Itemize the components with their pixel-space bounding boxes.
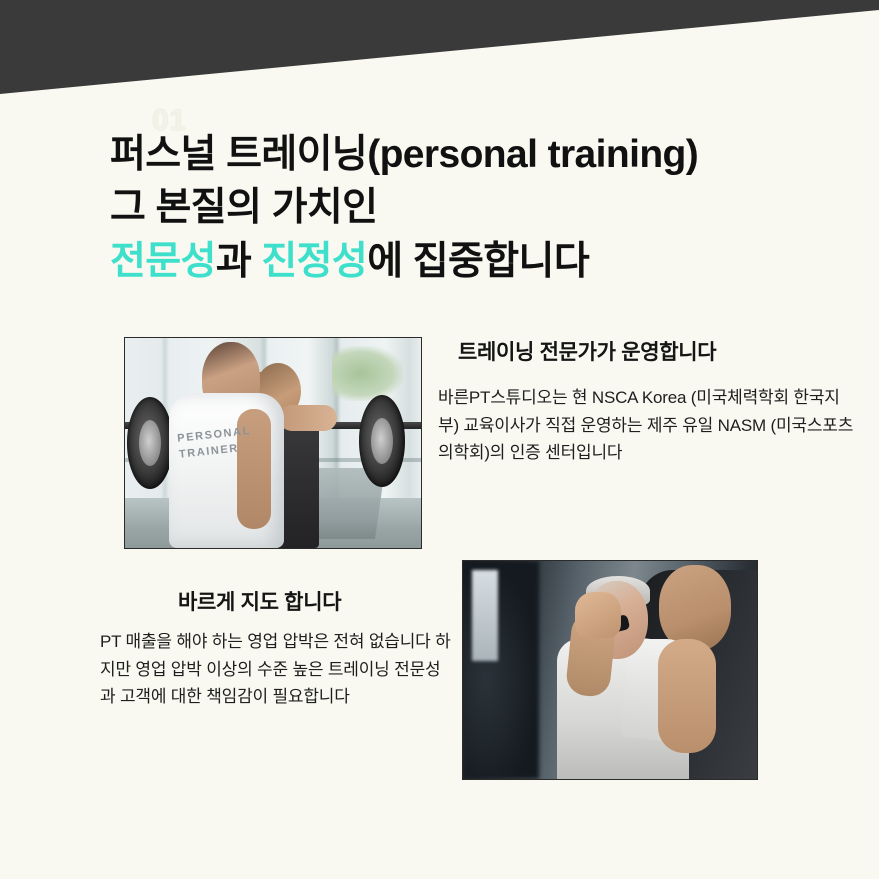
barbell-plate-left xyxy=(127,397,173,489)
headline-line-2: 그 본질의 가치인 xyxy=(110,181,850,234)
clasped-hands xyxy=(575,592,621,638)
top-diagonal-band xyxy=(0,0,879,100)
headline-line-1: 퍼스널 트레이닝(personal training) xyxy=(110,128,850,181)
headline-tail: 에 집중합니다 xyxy=(367,240,589,283)
barbell-plate-right xyxy=(359,395,405,487)
background-window xyxy=(472,570,498,662)
plate-hub-right xyxy=(371,418,393,464)
headline-accent-sincerity: 진정성 xyxy=(261,240,367,283)
trainer-arm xyxy=(658,639,716,752)
trainer-head xyxy=(659,565,731,651)
photo-high-five xyxy=(462,560,758,780)
photo-personal-trainer: PERSONAL TRAINER xyxy=(124,337,422,549)
plate-hub-left xyxy=(139,420,161,466)
headline-line-3: 전문성과 진정성에 집중합니다 xyxy=(110,235,850,288)
card-2-body: PT 매출을 해야 하는 영업 압박은 전혀 없습니다 하지만 영업 압박 이상… xyxy=(100,628,452,711)
window-greenery xyxy=(332,346,403,401)
photo-highfive-art xyxy=(463,561,757,779)
card-1-title: 트레이닝 전문가가 운영합니다 xyxy=(458,336,716,366)
page-title: 퍼스널 트레이닝(personal training) 그 본질의 가치인 전문… xyxy=(110,128,850,288)
headline-accent-expertise: 전문성 xyxy=(110,240,216,283)
card-2-title: 바르게 지도 합니다 xyxy=(178,586,341,616)
photo-trainer-art: PERSONAL TRAINER xyxy=(125,338,421,548)
headline-conjunction: 과 xyxy=(216,240,262,283)
card-1-body: 바른PT스튜디오는 현 NSCA Korea (미국체력학회 한국지부) 교육이… xyxy=(438,384,858,467)
client-arm xyxy=(279,405,337,431)
slide-canvas: 01 퍼스널 트레이닝(personal training) 그 본질의 가치인… xyxy=(0,0,879,879)
